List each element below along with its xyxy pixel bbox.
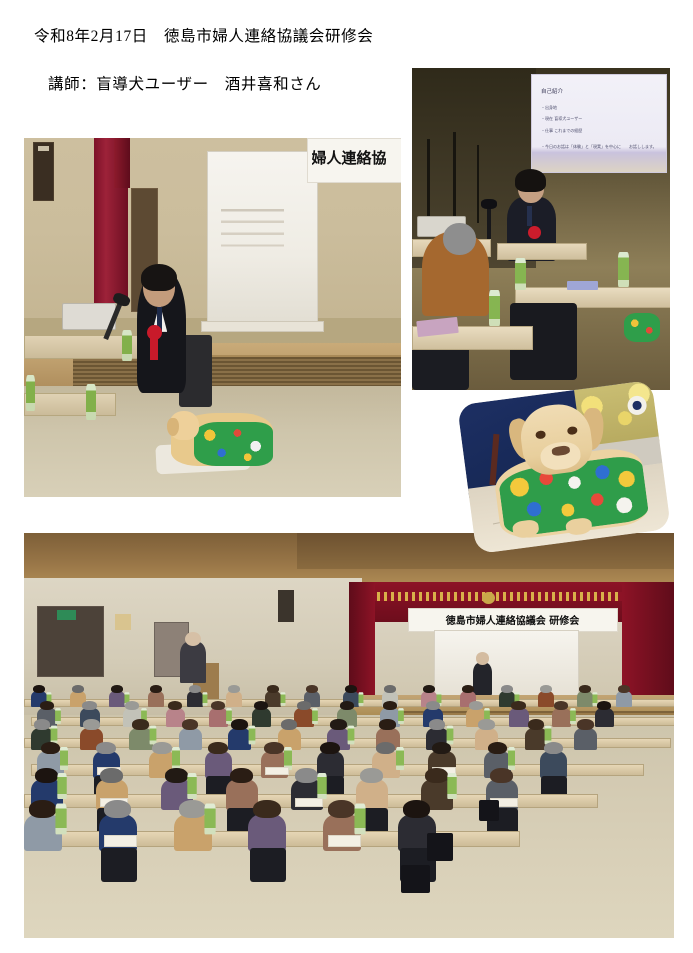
slide-text-lines	[221, 203, 284, 262]
guide-dog-eye	[567, 426, 578, 435]
tea-bottle	[150, 726, 157, 745]
audience-head	[254, 701, 268, 710]
audience-head	[111, 685, 123, 693]
photo-content: 徳島市婦人連絡協議会 研修会	[24, 533, 674, 938]
speaker-rosette	[147, 325, 162, 341]
audience-head	[281, 719, 298, 730]
audience-member	[595, 708, 615, 727]
photo-speaker-with-slide: 自己紹介 ・出身地 ・現在 盲導犬ユーザー ・仕事 これまでの経歴 ・今日のお話…	[412, 68, 670, 390]
handbag	[401, 865, 430, 893]
audience-head	[577, 719, 594, 730]
audience-head	[104, 800, 131, 818]
audience-head	[34, 719, 51, 730]
audience-head	[297, 701, 311, 710]
audience-head	[469, 701, 483, 710]
handbag	[479, 800, 499, 820]
audience-head	[597, 701, 611, 710]
tea-bottle	[515, 258, 525, 290]
audience-head	[189, 685, 201, 693]
audience-member	[252, 708, 272, 727]
audience-head	[488, 742, 508, 755]
handout	[265, 767, 289, 775]
mic-stand	[477, 145, 480, 222]
audience-head	[383, 701, 397, 710]
tea-bottle	[205, 804, 216, 835]
document-page: 令和8年2月17日 徳島市婦人連絡協議会研修会 講師：盲導犬ユーザー 酒井喜和さ…	[0, 0, 693, 953]
audience-head	[295, 768, 318, 783]
screen-base	[201, 321, 324, 332]
audience-head	[264, 742, 284, 755]
chair	[101, 848, 137, 882]
audience-head	[83, 719, 100, 730]
presenter-head	[476, 652, 489, 664]
audience-head	[544, 742, 564, 755]
wall-sign	[115, 614, 131, 630]
audience-table	[24, 393, 116, 417]
audience-member	[248, 814, 286, 851]
stage-emblem	[482, 592, 495, 604]
tea-bottle	[280, 693, 285, 707]
slide-bullet: ・出身地	[541, 105, 557, 111]
tea-bottle	[249, 726, 256, 745]
audience-head	[150, 685, 162, 693]
hall-banner-text: 徳島市婦人連絡協議会 研修会	[409, 612, 617, 627]
speaker-hair	[141, 264, 177, 291]
slide-bullet: ・今日のお話は「体験」と「現実」を中心に お話しします。	[541, 144, 657, 150]
audience-member	[540, 751, 567, 777]
tea-bottle	[187, 773, 196, 799]
audience-head	[40, 701, 54, 710]
audience-head	[423, 685, 435, 693]
standing-staff	[180, 642, 206, 683]
audience-head	[267, 685, 279, 693]
audience-head	[554, 701, 568, 710]
speaker-necktie	[527, 206, 532, 225]
handbag	[427, 833, 453, 861]
audience-member	[577, 691, 594, 707]
audience-head	[125, 701, 139, 710]
audience-head	[462, 685, 474, 693]
slide-bullet: ・仕事 これまでの経歴	[541, 128, 582, 134]
audience-head	[179, 800, 206, 818]
tea-bottle	[86, 384, 96, 420]
tea-bottle	[172, 747, 180, 769]
photo-audience-hall: 徳島市婦人連絡協議会 研修会	[24, 533, 674, 938]
audience-head	[403, 800, 430, 818]
audience-head	[340, 701, 354, 710]
exit-sign-icon	[57, 610, 77, 620]
audience-head	[490, 768, 513, 783]
audience-member	[509, 708, 529, 727]
audience-head	[579, 685, 591, 693]
audience-member	[226, 691, 243, 707]
hall-banner: 徳島市婦人連絡協議会 研修会	[408, 608, 618, 632]
audience-head	[379, 719, 396, 730]
handout	[295, 798, 323, 808]
wall-speaker	[33, 142, 54, 201]
hall-banner-text: 婦人連絡協	[312, 147, 399, 168]
audience-head	[33, 685, 45, 693]
tea-bottle	[447, 773, 456, 799]
audience-member	[205, 751, 232, 777]
tea-bottle	[358, 693, 363, 707]
audience-head	[528, 719, 545, 730]
tea-bottle	[55, 708, 61, 724]
slide-title: 自己紹介	[541, 87, 563, 95]
audience-head	[208, 742, 228, 755]
tea-bottle	[60, 747, 68, 769]
audience-head	[165, 768, 188, 783]
audience-head	[429, 719, 446, 730]
audience-head	[432, 742, 452, 755]
audience-head	[168, 701, 182, 710]
audience-head	[231, 719, 248, 730]
audience-head	[360, 768, 383, 783]
handout	[104, 835, 137, 846]
tea-bottle	[55, 804, 66, 835]
audience-head	[511, 701, 525, 710]
audience-member	[187, 691, 204, 707]
audience-member	[294, 708, 314, 727]
audience-head	[152, 742, 172, 755]
audience-head	[540, 685, 552, 693]
audience-head	[306, 685, 318, 693]
photo-guide-dog-closeup	[457, 380, 671, 554]
tea-bottle	[312, 708, 318, 724]
audience-head	[501, 685, 513, 693]
page-title: 令和8年2月17日 徳島市婦人連絡協議会研修会	[34, 24, 373, 46]
photo-content	[457, 380, 671, 554]
audience-head	[41, 742, 61, 755]
tea-bottle	[570, 708, 576, 724]
presenter	[473, 663, 493, 695]
tea-bottle	[317, 773, 326, 799]
audience-head	[132, 719, 149, 730]
audience-member	[179, 728, 202, 750]
audience-head	[96, 742, 116, 755]
handout	[567, 281, 598, 291]
projection-screen	[207, 151, 318, 325]
guide-dog-coat	[194, 422, 273, 467]
chair	[250, 848, 286, 882]
audience-head	[320, 742, 340, 755]
audience-head	[211, 701, 225, 710]
speaker-table	[497, 243, 587, 259]
mic-stand	[427, 139, 430, 223]
audience-member	[148, 691, 165, 707]
audience-head	[182, 719, 199, 730]
tea-bottle	[122, 330, 132, 361]
handout	[328, 835, 361, 846]
photo-content: 婦人連絡協	[24, 138, 401, 497]
tea-bottle	[354, 804, 365, 835]
audience-head	[426, 701, 440, 710]
audience-head	[72, 685, 84, 693]
tea-bottle	[57, 773, 66, 799]
audience-head	[328, 800, 355, 818]
tea-bottle	[618, 252, 628, 287]
photo-speaker-with-guide-dog: 婦人連絡協	[24, 138, 401, 497]
photo-content: 自己紹介 ・出身地 ・現在 盲導犬ユーザー ・仕事 これまでの経歴 ・今日のお話…	[412, 68, 670, 390]
audience-head	[376, 742, 396, 755]
audience-head	[618, 685, 630, 693]
audience-head	[82, 701, 96, 710]
slide-bullet: ・現在 盲導犬ユーザー	[541, 116, 582, 122]
guide-dog-coat	[624, 313, 660, 342]
audience-head	[253, 800, 280, 818]
speaker-hair	[515, 169, 546, 192]
audience-head	[29, 800, 56, 818]
audience-head	[228, 685, 240, 693]
speaker-rosette	[528, 226, 541, 239]
tea-bottle	[398, 708, 404, 724]
wall-speaker	[278, 590, 294, 622]
tea-bottle	[347, 726, 354, 745]
tea-bottle	[489, 290, 499, 325]
tea-bottle	[202, 693, 207, 707]
stage-curtain-secondary	[114, 138, 129, 188]
audience-member	[616, 691, 633, 707]
tea-bottle	[26, 375, 36, 411]
tea-bottle	[396, 747, 404, 769]
audience-member	[574, 728, 597, 750]
audience-member	[552, 708, 572, 727]
audience-head	[443, 223, 477, 255]
audience-head	[478, 719, 495, 730]
page-subtitle: 講師：盲導犬ユーザー 酒井喜和さん	[48, 72, 321, 94]
audience-head	[35, 768, 58, 783]
tea-bottle	[446, 726, 453, 745]
guide-dog-ear	[167, 418, 178, 436]
tea-bottle	[508, 747, 516, 769]
audience-head	[230, 768, 253, 783]
audience-head	[100, 768, 123, 783]
audience-head	[384, 685, 396, 693]
hall-banner: 婦人連絡協	[307, 138, 401, 183]
audience-head	[425, 768, 448, 783]
audience-member	[538, 691, 555, 707]
audience-head	[345, 685, 357, 693]
audience-member	[109, 691, 126, 707]
audience-head	[330, 719, 347, 730]
mic-stand	[453, 132, 456, 222]
